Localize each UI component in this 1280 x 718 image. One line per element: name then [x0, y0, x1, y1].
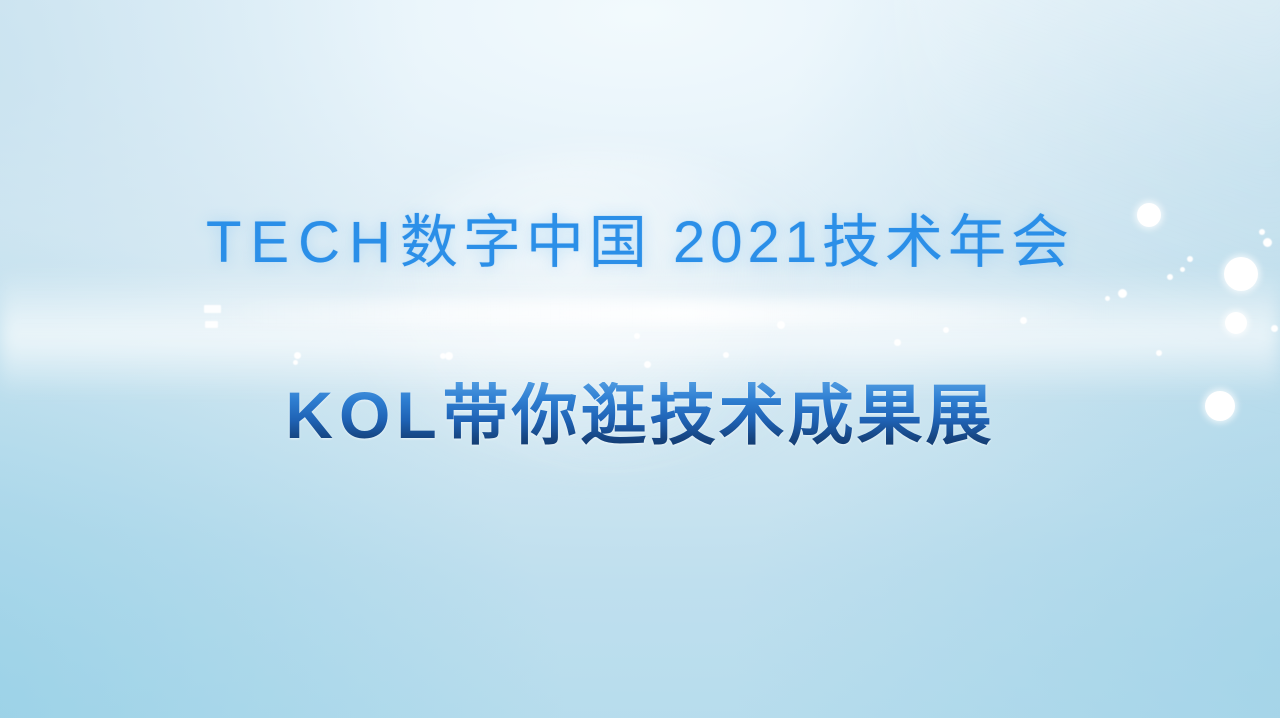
headline-latin: TECH — [206, 210, 400, 275]
event-subheadline: KOL带你逛技术成果展 — [0, 382, 1280, 448]
subhead-latin: KOL — [285, 378, 442, 452]
slide-content: TECH数字中国 2021技术年会 KOL带你逛技术成果展 — [0, 0, 1280, 718]
event-headline: TECH数字中国 2021技术年会 — [0, 214, 1280, 272]
title-slide: TECH数字中国 2021技术年会 KOL带你逛技术成果展 — [0, 0, 1280, 718]
headline-cjk: 数字中国 2021技术年会 — [400, 210, 1074, 275]
subhead-cjk: 带你逛技术成果展 — [443, 378, 995, 452]
